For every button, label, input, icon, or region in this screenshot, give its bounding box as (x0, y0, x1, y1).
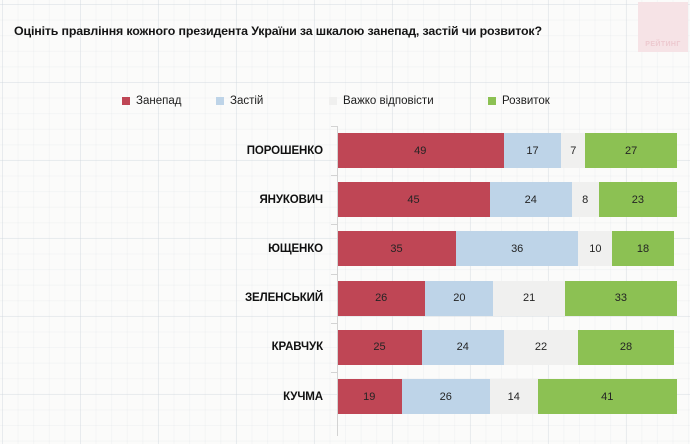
rating-logo-text: РЕЙТИНГ (645, 41, 681, 48)
bar-row-label: КРАВЧУК (0, 341, 337, 353)
bar-segment[interactable]: 8 (572, 182, 599, 217)
bar-segment[interactable]: 7 (561, 133, 585, 168)
axis-line (337, 126, 338, 436)
bar-segment[interactable]: 28 (578, 330, 673, 365)
bar-segment-value: 17 (526, 145, 538, 157)
bar-segment-value: 25 (373, 341, 385, 353)
bar-segment-value: 35 (390, 243, 402, 255)
bar-segment-value: 10 (589, 243, 601, 255)
bar-row-label: ЗЕЛЕНСЬКИЙ (0, 292, 337, 304)
bar-segment-value: 18 (637, 243, 649, 255)
bar-row-label: ПОРОШЕНКО (0, 145, 337, 157)
bar-segment-value: 14 (508, 391, 520, 403)
bar-row: КУЧМА19261441 (0, 372, 690, 421)
bar-segment[interactable]: 20 (425, 281, 493, 316)
rating-logo-watermark: РЕЙТИНГ (638, 2, 688, 52)
bar-segment-value: 36 (511, 243, 523, 255)
bar-segment[interactable]: 45 (337, 182, 490, 217)
bar-segment[interactable]: 41 (538, 379, 677, 414)
bar-segment-value: 20 (453, 292, 465, 304)
bar-segment[interactable]: 27 (585, 133, 677, 168)
legend-item-label: Застій (230, 95, 263, 107)
bar-track: 25242228 (337, 330, 677, 365)
chart-legend: ЗанепадЗастійВажко відповістиРозвиток (0, 92, 690, 110)
page-title: Оцініть правління кожного президента Укр… (14, 24, 634, 39)
legend-swatch-icon (488, 97, 496, 105)
bar-row-label: ЯНУКОВИЧ (0, 194, 337, 206)
legend-swatch-icon (122, 97, 130, 105)
legend-item-label: Розвиток (502, 95, 550, 107)
bar-row: ПОРОШЕНКО4917727 (0, 126, 690, 175)
bar-segment[interactable]: 26 (402, 379, 490, 414)
bar-track: 35361018 (337, 231, 677, 266)
bar-segment-value: 24 (457, 341, 469, 353)
legend-swatch-icon (216, 97, 224, 105)
bar-row-label: КУЧМА (0, 391, 337, 403)
bar-track: 19261441 (337, 379, 677, 414)
bar-segment-value: 23 (632, 194, 644, 206)
axis-tick (331, 274, 337, 275)
bar-segment[interactable]: 26 (337, 281, 425, 316)
bar-segment-value: 33 (615, 292, 627, 304)
legend-item-3[interactable]: Розвиток (488, 92, 550, 110)
bar-segment-value: 21 (523, 292, 535, 304)
legend-swatch-icon (329, 97, 337, 105)
bar-segment-value: 41 (601, 391, 613, 403)
bar-segment-value: 28 (620, 341, 632, 353)
bar-segment[interactable]: 23 (599, 182, 677, 217)
bar-segment-value: 22 (535, 341, 547, 353)
bar-segment[interactable]: 21 (493, 281, 564, 316)
legend-item-0[interactable]: Занепад (122, 92, 181, 110)
bar-segment[interactable]: 25 (337, 330, 422, 365)
bar-segment[interactable]: 24 (422, 330, 504, 365)
bar-segment[interactable]: 18 (612, 231, 673, 266)
axis-tick (331, 224, 337, 225)
bar-segment-value: 8 (582, 194, 588, 206)
legend-item-label: Важко відповісти (343, 95, 434, 107)
bar-track: 4524823 (337, 182, 677, 217)
axis-tick (331, 175, 337, 176)
bar-segment-value: 49 (414, 145, 426, 157)
bar-segment[interactable]: 22 (504, 330, 579, 365)
bar-segment-value: 45 (407, 194, 419, 206)
bar-segment[interactable]: 14 (490, 379, 538, 414)
bar-segment-value: 24 (525, 194, 537, 206)
axis-tick (331, 323, 337, 324)
bar-segment[interactable]: 19 (337, 379, 402, 414)
chart-page: РЕЙТИНГ Оцініть правління кожного презид… (0, 0, 690, 444)
bar-segment[interactable]: 36 (456, 231, 578, 266)
bar-segment-value: 7 (570, 145, 576, 157)
bar-segment-value: 26 (440, 391, 452, 403)
bar-row: ЯНУКОВИЧ4524823 (0, 175, 690, 224)
bar-segment-value: 19 (363, 391, 375, 403)
stacked-bar-chart: ПОРОШЕНКО4917727ЯНУКОВИЧ4524823ЮЩЕНКО353… (0, 126, 690, 436)
legend-item-label: Занепад (136, 95, 181, 107)
axis-tick (331, 372, 337, 373)
bar-track: 4917727 (337, 133, 677, 168)
bar-segment-value: 26 (375, 292, 387, 304)
bar-segment[interactable]: 49 (337, 133, 504, 168)
bar-row: ЗЕЛЕНСЬКИЙ26202133 (0, 274, 690, 323)
bar-segment[interactable]: 24 (490, 182, 572, 217)
bar-segment[interactable]: 10 (578, 231, 612, 266)
bar-segment-value: 27 (625, 145, 637, 157)
bar-segment[interactable]: 33 (565, 281, 677, 316)
bar-row-label: ЮЩЕНКО (0, 243, 337, 255)
bar-segment[interactable]: 17 (504, 133, 562, 168)
bar-track: 26202133 (337, 281, 677, 316)
legend-item-2[interactable]: Важко відповісти (329, 92, 434, 110)
axis-tick (331, 126, 337, 127)
legend-item-1[interactable]: Застій (216, 92, 263, 110)
bar-row: ЮЩЕНКО35361018 (0, 224, 690, 273)
bar-segment[interactable]: 35 (337, 231, 456, 266)
bar-row: КРАВЧУК25242228 (0, 323, 690, 372)
